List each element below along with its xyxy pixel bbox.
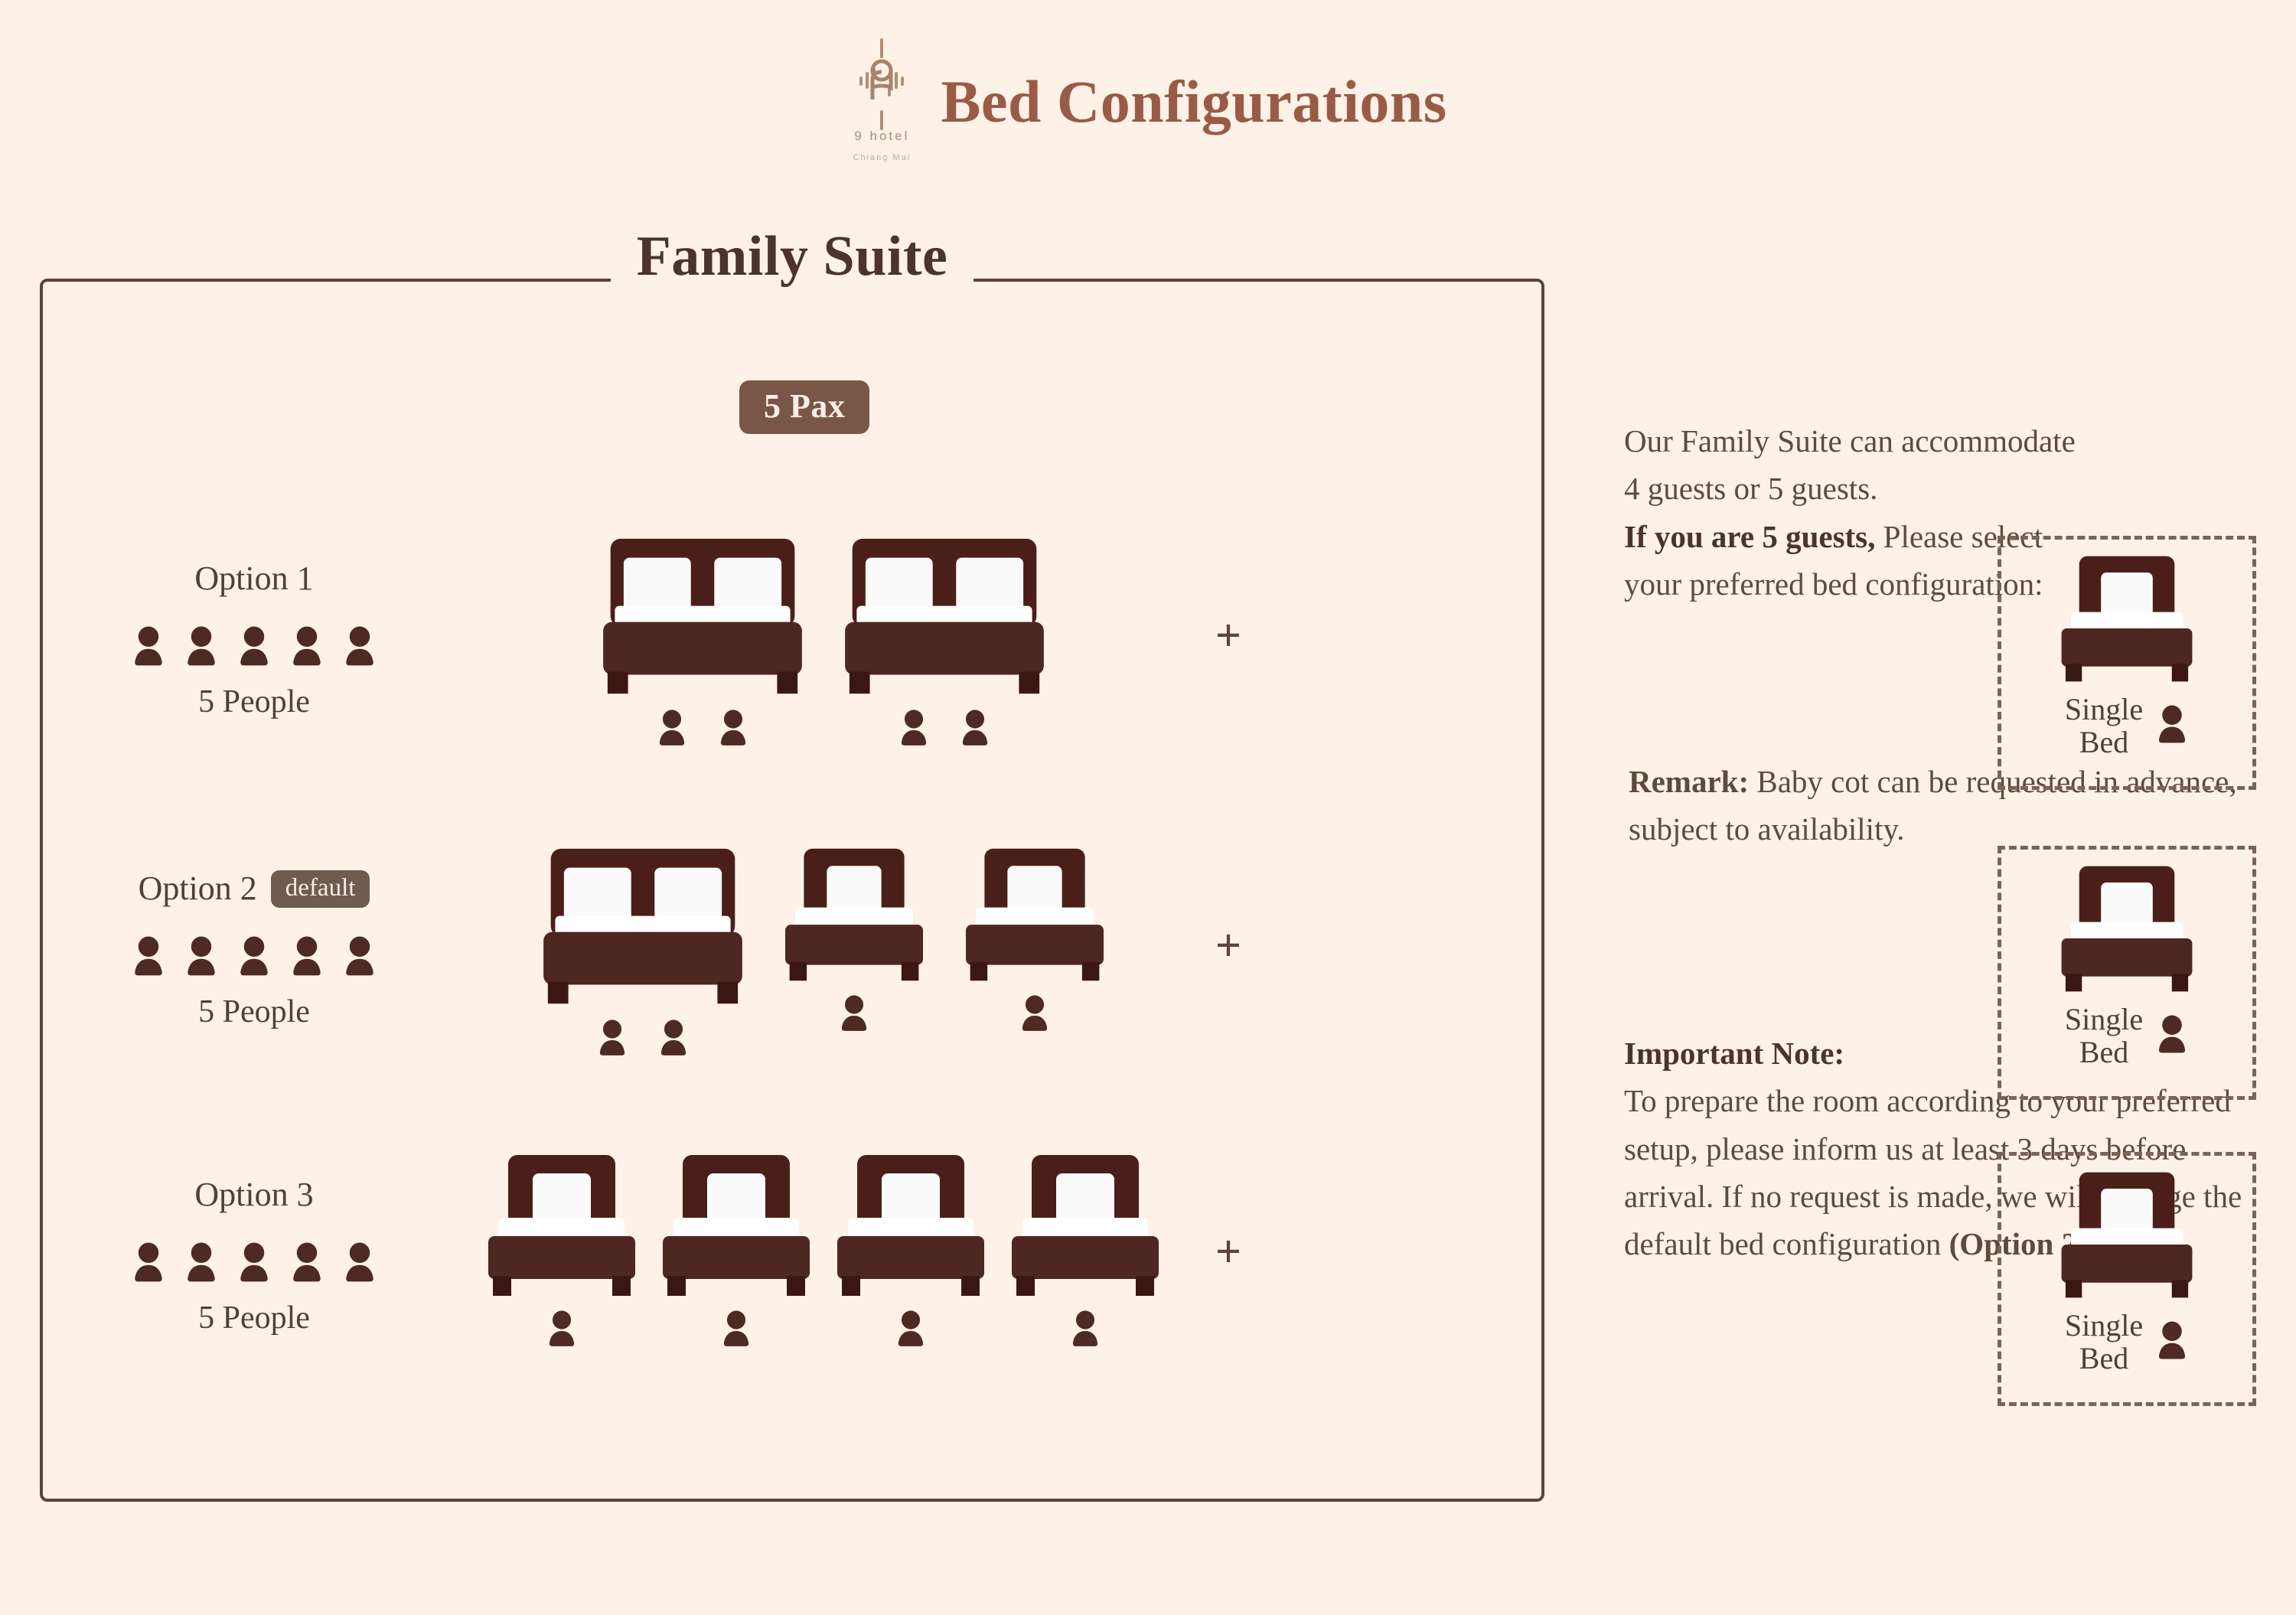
person-icon xyxy=(289,1242,325,1285)
person-icon xyxy=(236,626,272,669)
sleeper-icon xyxy=(895,1310,927,1349)
single-bed-icon xyxy=(2059,553,2195,688)
option-label-column-2: Option 2default5 People xyxy=(40,846,468,1028)
sleepers-row xyxy=(720,1310,752,1349)
single-bed-icon xyxy=(660,1152,813,1303)
single-bed-text: SingleBed xyxy=(2065,1003,2143,1069)
option-row-3[interactable]: Option 35 People+ xyxy=(40,1152,1544,1405)
person-icon xyxy=(342,626,377,669)
sleepers-row xyxy=(596,1020,690,1059)
single-bed[interactable] xyxy=(782,846,926,1034)
beds-column-1 xyxy=(468,536,1179,749)
person-icon xyxy=(289,936,325,979)
single-bed-icon xyxy=(834,1152,987,1303)
single-bed-text: SingleBed xyxy=(2065,1309,2143,1375)
single-bed-icon xyxy=(963,846,1107,987)
person-icon xyxy=(131,936,166,979)
sleepers-row xyxy=(895,1310,927,1349)
option-row-2[interactable]: Option 2default5 People+ xyxy=(40,846,1544,1098)
intro-line-1: Our Family Suite can accommodate xyxy=(1624,417,2236,465)
option-headline: Option 2default xyxy=(40,867,468,910)
panel-title: Family Suite xyxy=(611,228,974,285)
person-icon xyxy=(236,936,272,979)
intro-bold: If you are 5 guests, xyxy=(1624,519,1875,554)
logo-subtitle: Chiang Mai xyxy=(853,153,912,162)
sleepers-row xyxy=(656,710,749,749)
sleeper-icon xyxy=(546,1310,578,1349)
sleeper-icon xyxy=(898,710,930,749)
single-bed[interactable] xyxy=(485,1152,638,1349)
pax-badge: 5 Pax xyxy=(739,380,869,434)
sleeper-icon xyxy=(959,710,991,749)
single-bed-card-label: SingleBed xyxy=(2065,1309,2189,1375)
sleeper-icon xyxy=(720,1310,752,1349)
page-header: 9 hotel Chiang Mai Bed Configurations xyxy=(0,37,2296,167)
sleepers-row xyxy=(1019,995,1051,1034)
option-row-1[interactable]: Option 15 People+ xyxy=(40,536,1544,788)
sleepers-row xyxy=(1069,1310,1101,1349)
people-icon-row xyxy=(40,927,468,979)
plus-separator: + xyxy=(1179,536,1278,735)
people-icon-row xyxy=(40,1233,468,1285)
double-bed[interactable] xyxy=(842,536,1047,749)
extra-single-bed-card-3[interactable]: SingleBed xyxy=(1998,1152,2256,1406)
single-bed-icon xyxy=(782,846,926,987)
sleepers-row xyxy=(838,995,870,1034)
person-icon xyxy=(131,1242,166,1285)
single-bed-card-label: SingleBed xyxy=(2065,693,2189,759)
extra-single-bed-card-2[interactable]: SingleBed xyxy=(1998,846,2256,1100)
sleeper-icon xyxy=(656,710,688,749)
double-bed-icon xyxy=(600,536,805,702)
person-icon xyxy=(184,1242,219,1285)
single-bed[interactable] xyxy=(660,1152,813,1349)
person-icon xyxy=(131,626,166,669)
option-label-column-3: Option 35 People xyxy=(40,1152,468,1334)
people-icon-row xyxy=(40,617,468,669)
sleeper-icon xyxy=(2155,1321,2189,1362)
option-label-column-1: Option 15 People xyxy=(40,536,468,718)
default-badge: default xyxy=(271,870,370,908)
option-title: Option 2 xyxy=(139,872,257,905)
single-bed-card-label: SingleBed xyxy=(2065,1003,2189,1069)
person-icon xyxy=(184,936,219,979)
single-bed-icon xyxy=(485,1152,638,1303)
sleeper-icon xyxy=(2155,1015,2189,1056)
double-bed-icon xyxy=(540,846,745,1012)
person-icon xyxy=(236,1242,272,1285)
people-count-label: 5 People xyxy=(40,1302,468,1334)
nine-hotel-logo-icon: 9 hotel Chiang Mai xyxy=(849,37,915,167)
person-icon xyxy=(342,1242,377,1285)
single-bed-text: SingleBed xyxy=(2065,693,2143,759)
sleeper-icon xyxy=(1069,1310,1101,1349)
single-bed-icon xyxy=(1009,1152,1162,1303)
page-title: Bed Configurations xyxy=(941,72,1446,132)
sleeper-icon xyxy=(596,1020,628,1059)
option-title: Option 1 xyxy=(194,562,313,595)
sleepers-row xyxy=(898,710,991,749)
single-bed-icon xyxy=(2059,863,2195,998)
sleepers-row xyxy=(546,1310,578,1349)
double-bed-icon xyxy=(842,536,1047,702)
sleeper-icon xyxy=(717,710,749,749)
sleeper-icon xyxy=(838,995,870,1034)
single-bed[interactable] xyxy=(834,1152,987,1349)
remark-label: Remark: xyxy=(1629,764,1749,799)
logo-name: 9 hotel xyxy=(854,129,909,144)
sleeper-icon xyxy=(1019,995,1051,1034)
person-icon xyxy=(184,626,219,669)
beds-column-3 xyxy=(468,1152,1179,1349)
option-headline: Option 1 xyxy=(40,557,468,600)
option-title: Option 3 xyxy=(194,1178,313,1212)
plus-separator: + xyxy=(1179,846,1278,1045)
person-icon xyxy=(342,936,377,979)
double-bed[interactable] xyxy=(600,536,805,749)
sleeper-icon xyxy=(657,1020,690,1059)
single-bed-icon xyxy=(2059,1170,2195,1304)
beds-column-2 xyxy=(468,846,1179,1059)
extra-single-bed-card-1[interactable]: SingleBed xyxy=(1998,536,2256,790)
option-headline: Option 3 xyxy=(40,1173,468,1216)
intro-line-2: 4 guests or 5 guests. xyxy=(1624,465,2236,512)
single-bed[interactable] xyxy=(963,846,1107,1034)
people-count-label: 5 People xyxy=(40,996,468,1028)
sleeper-icon xyxy=(2155,705,2189,746)
plus-separator: + xyxy=(1179,1152,1278,1351)
person-icon xyxy=(289,626,325,669)
single-bed[interactable] xyxy=(1009,1152,1162,1349)
people-count-label: 5 People xyxy=(40,686,468,718)
double-bed[interactable] xyxy=(540,846,745,1059)
